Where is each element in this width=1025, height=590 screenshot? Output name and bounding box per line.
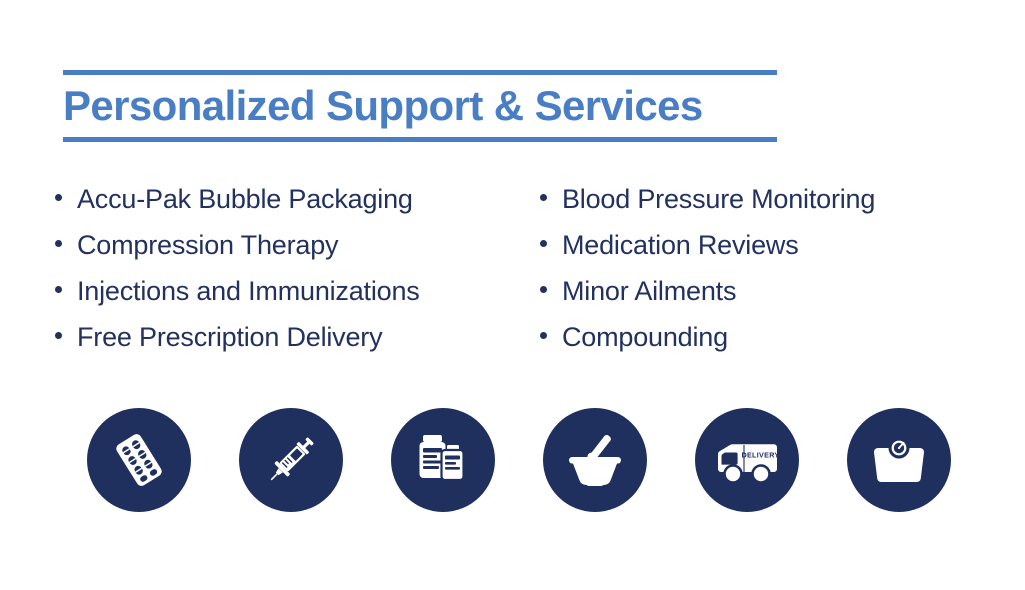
title-block: Personalized Support & Services [63, 70, 777, 142]
list-item: Blood Pressure Monitoring [540, 176, 985, 222]
service-icon-row: DELIVERY [87, 408, 951, 512]
truck-delivery-text: DELIVERY [741, 451, 779, 460]
list-item: Minor Ailments [540, 268, 985, 314]
bullet-icon [55, 194, 62, 201]
pill-bottles-icon [414, 431, 472, 489]
services-lists: Accu-Pak Bubble Packaging Compression Th… [55, 176, 985, 360]
list-item: Medication Reviews [540, 222, 985, 268]
list-item: Compression Therapy [55, 222, 540, 268]
list-item: Free Prescription Delivery [55, 314, 540, 360]
page-title: Personalized Support & Services [63, 75, 777, 137]
icon-badge-blister-pack [87, 408, 191, 512]
list-item-label: Compounding [562, 314, 728, 360]
slide-canvas: Personalized Support & Services Accu-Pak… [0, 0, 1025, 590]
blister-pack-icon [109, 430, 169, 490]
services-column-right: Blood Pressure Monitoring Medication Rev… [540, 176, 985, 360]
list-item-label: Injections and Immunizations [77, 268, 420, 314]
syringe-icon [262, 431, 320, 489]
delivery-truck-icon: DELIVERY [714, 432, 780, 488]
bullet-icon [540, 286, 547, 293]
bullet-icon [540, 332, 547, 339]
weight-scale-icon [870, 431, 928, 489]
list-item-label: Blood Pressure Monitoring [562, 176, 875, 222]
list-item-label: Compression Therapy [77, 222, 338, 268]
list-item-label: Minor Ailments [562, 268, 736, 314]
mortar-pestle-icon [564, 429, 626, 491]
bullet-icon [55, 332, 62, 339]
bullet-icon [55, 240, 62, 247]
list-item-label: Accu-Pak Bubble Packaging [77, 176, 413, 222]
title-rule-bottom [63, 137, 777, 142]
services-column-left: Accu-Pak Bubble Packaging Compression Th… [55, 176, 540, 360]
list-item: Injections and Immunizations [55, 268, 540, 314]
icon-badge-mortar-pestle [543, 408, 647, 512]
list-item-label: Medication Reviews [562, 222, 799, 268]
icon-badge-weight-scale [847, 408, 951, 512]
icon-badge-delivery-truck: DELIVERY [695, 408, 799, 512]
icon-badge-pill-bottles [391, 408, 495, 512]
icon-badge-syringe [239, 408, 343, 512]
bullet-icon [540, 194, 547, 201]
list-item: Compounding [540, 314, 985, 360]
list-item: Accu-Pak Bubble Packaging [55, 176, 540, 222]
bullet-icon [55, 286, 62, 293]
bullet-icon [540, 240, 547, 247]
list-item-label: Free Prescription Delivery [77, 314, 382, 360]
